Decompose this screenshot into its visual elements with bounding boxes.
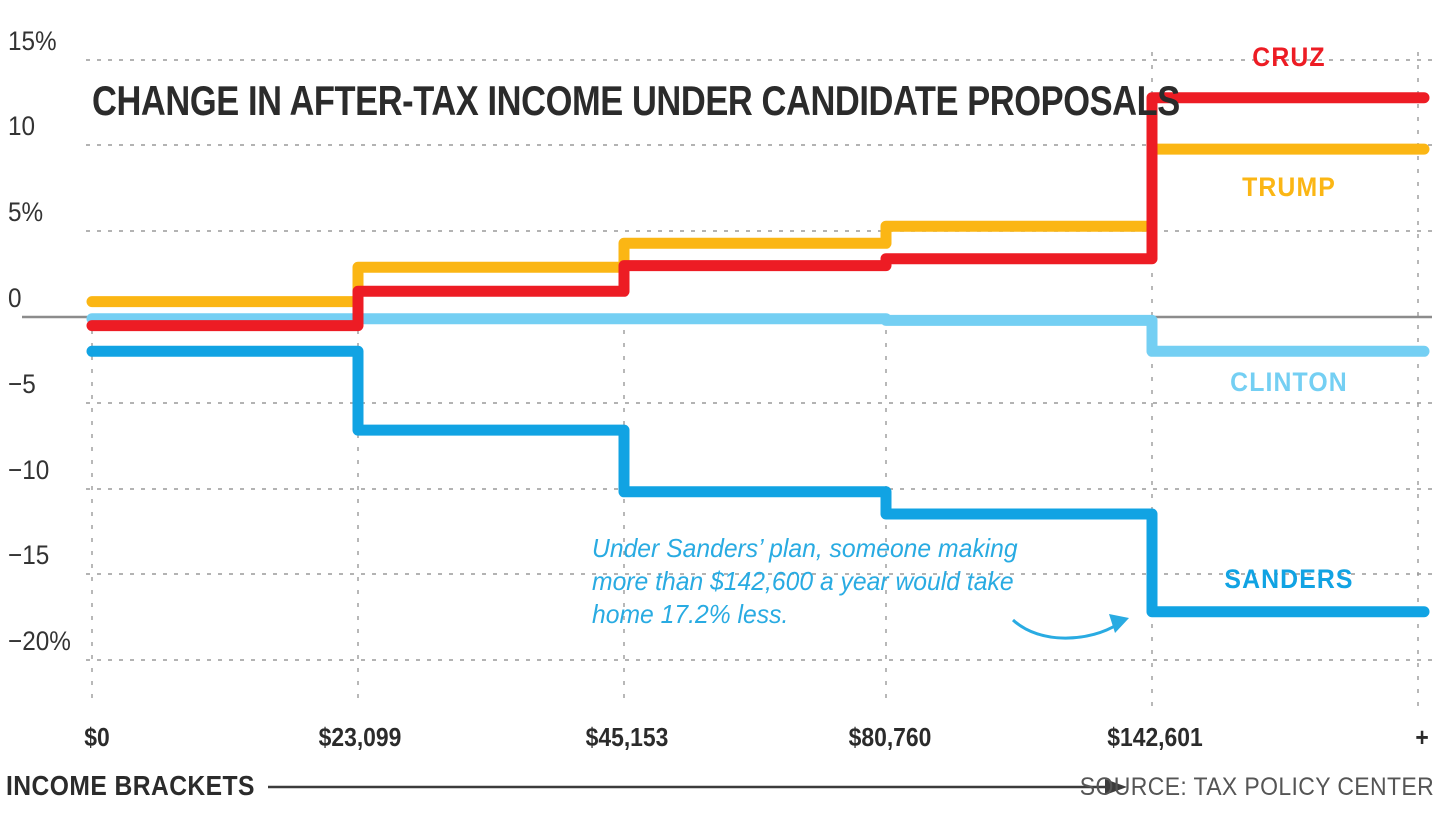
chart-svg: [0, 0, 1440, 831]
source-credit: SOURCE: TAX POLICY CENTER: [1080, 773, 1434, 802]
chart-title: CHANGE IN AFTER-TAX INCOME UNDER CANDIDA…: [92, 78, 1180, 124]
plot-area: CHANGE IN AFTER-TAX INCOME UNDER CANDIDA…: [0, 0, 1440, 831]
income-brackets-arrow: [268, 779, 1127, 795]
x-tick-label-80760: $80,760: [849, 722, 932, 753]
series-label-clinton: CLINTON: [1230, 367, 1348, 398]
x-tick-label-0: $0: [84, 722, 109, 753]
series-line-cruz: [92, 98, 1424, 326]
y-tick-label-15: 15%: [8, 26, 57, 57]
chart-figure: CHANGE IN AFTER-TAX INCOME UNDER CANDIDA…: [0, 0, 1440, 831]
y-tick-label-5: 5%: [8, 197, 43, 228]
x-tick-label-23099: $23,099: [319, 722, 402, 753]
x-tick-label-45153: $45,153: [586, 722, 669, 753]
y-tick-label-neg20: −20%: [8, 626, 71, 657]
y-tick-label-neg15: −15: [8, 540, 49, 571]
series-label-cruz: CRUZ: [1252, 42, 1325, 73]
series-line-trump: [92, 149, 1424, 302]
y-tick-label-0: 0: [8, 283, 22, 314]
x-axis-title: INCOME BRACKETS: [6, 770, 255, 802]
y-tick-label-neg10: −10: [8, 455, 49, 486]
sanders-annotation-text: Under Sanders’ plan, someone making more…: [592, 532, 1039, 631]
y-tick-label-10: 10: [8, 111, 35, 142]
series-label-trump: TRUMP: [1242, 172, 1336, 203]
series-label-sanders: SANDERS: [1224, 564, 1353, 595]
y-tick-label-neg5: −5: [8, 369, 36, 400]
x-tick-label-142601: $142,601: [1107, 722, 1202, 753]
x-tick-label-plus: +: [1415, 722, 1428, 753]
